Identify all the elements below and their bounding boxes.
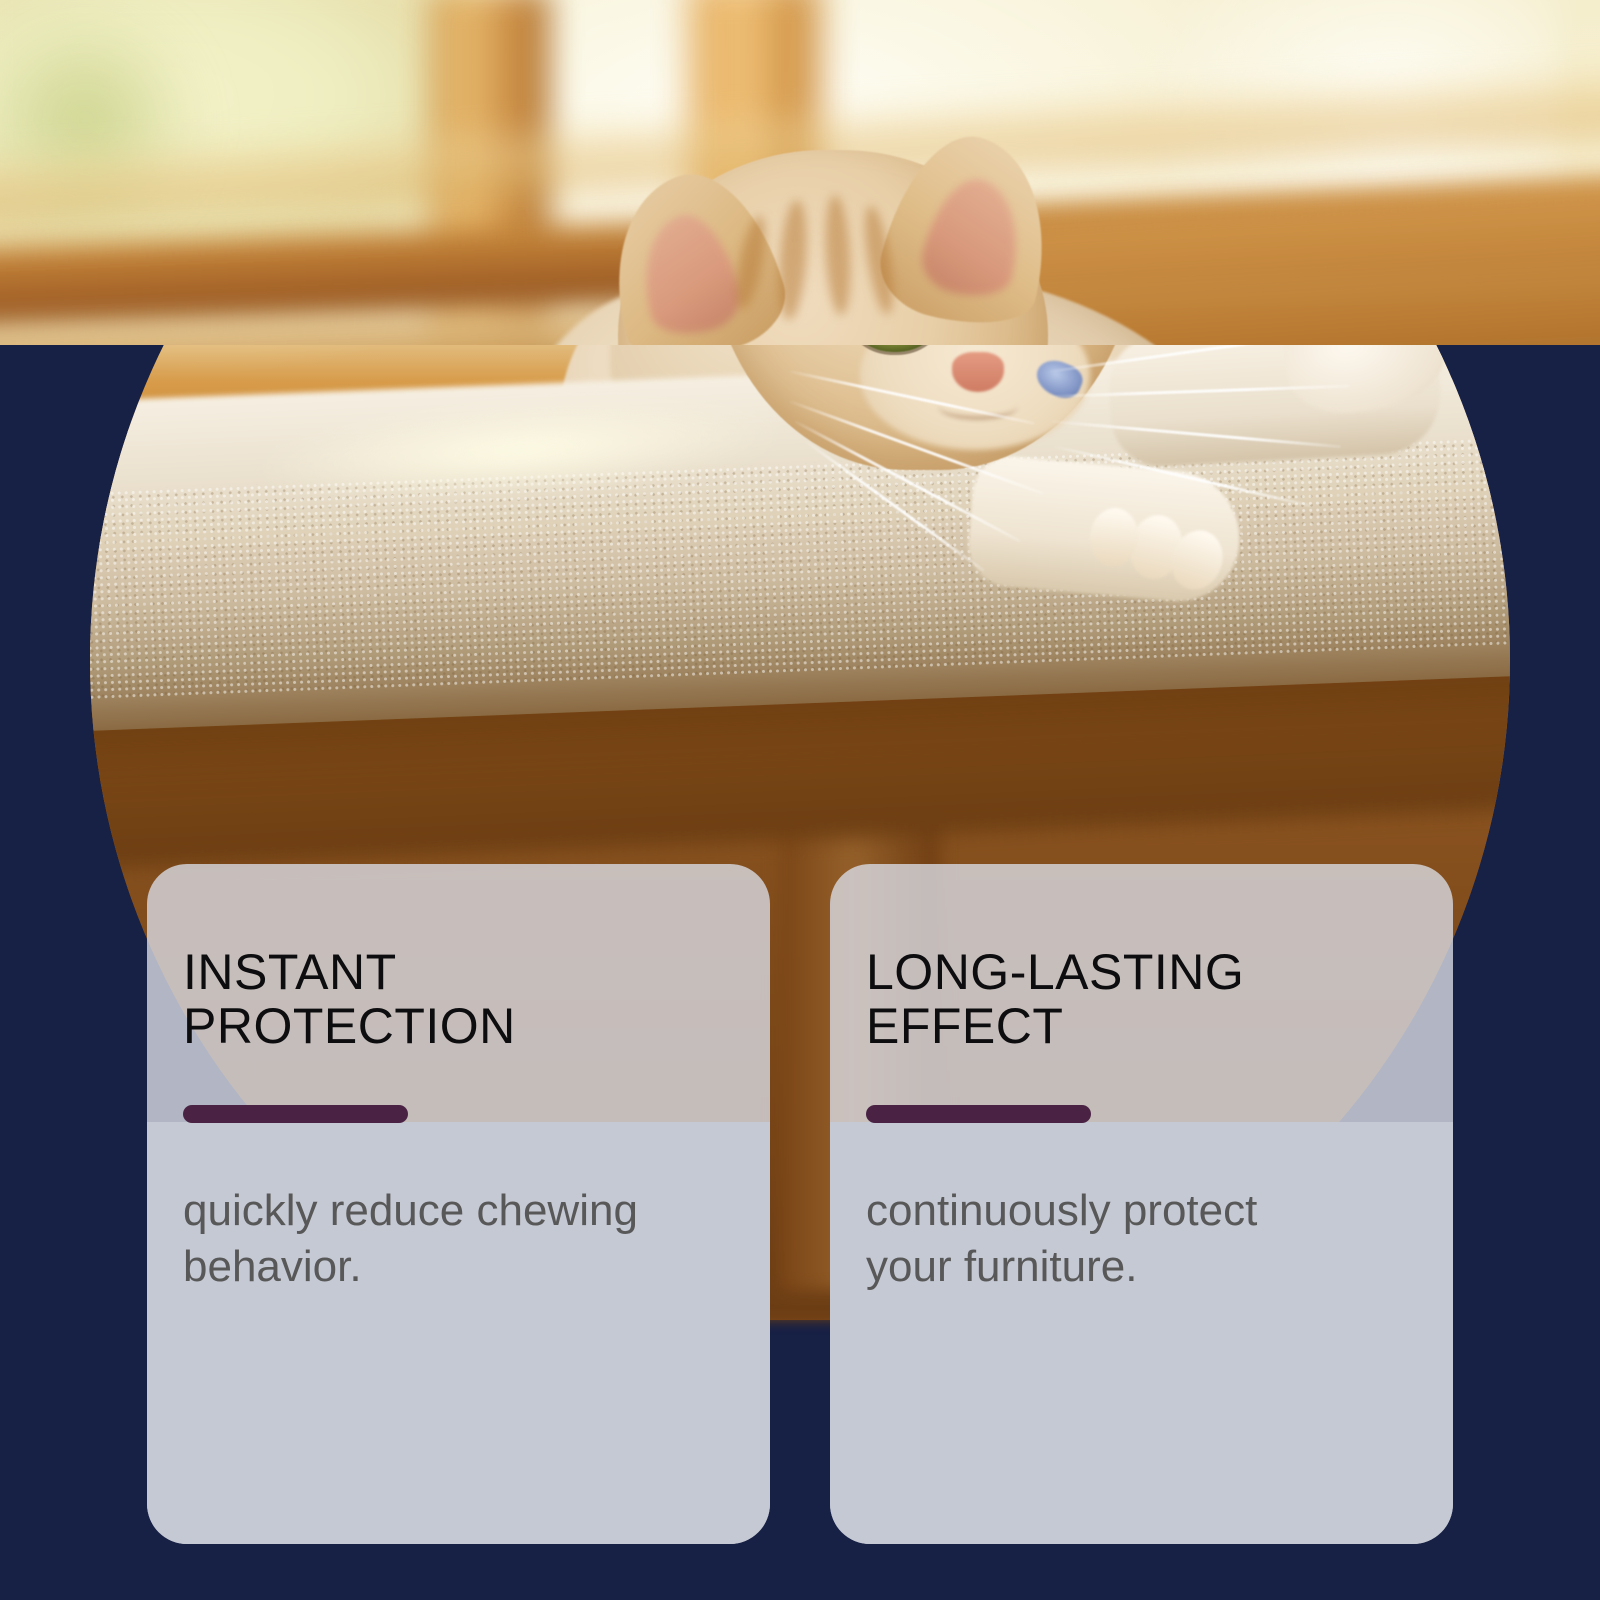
card-accent-rule: [183, 1105, 408, 1123]
feature-card-list: INSTANT PROTECTION quickly reduce chewin…: [147, 864, 1453, 1544]
hero-image-top-strip: [0, 0, 1600, 345]
card-body-text: quickly reduce chewing behavior.: [183, 1183, 736, 1296]
card-accent-rule: [866, 1105, 1091, 1123]
card-title: LONG-LASTING EFFECT: [866, 946, 1419, 1053]
card-title: INSTANT PROTECTION: [183, 946, 736, 1053]
feature-card-long-lasting-effect[interactable]: LONG-LASTING EFFECT continuously protect…: [830, 864, 1453, 1544]
poster-canvas: INSTANT PROTECTION quickly reduce chewin…: [0, 0, 1600, 1600]
photo-scene-top: [0, 0, 1600, 345]
card-body-text: continuously protect your furniture.: [866, 1183, 1419, 1296]
feature-card-instant-protection[interactable]: INSTANT PROTECTION quickly reduce chewin…: [147, 864, 770, 1544]
